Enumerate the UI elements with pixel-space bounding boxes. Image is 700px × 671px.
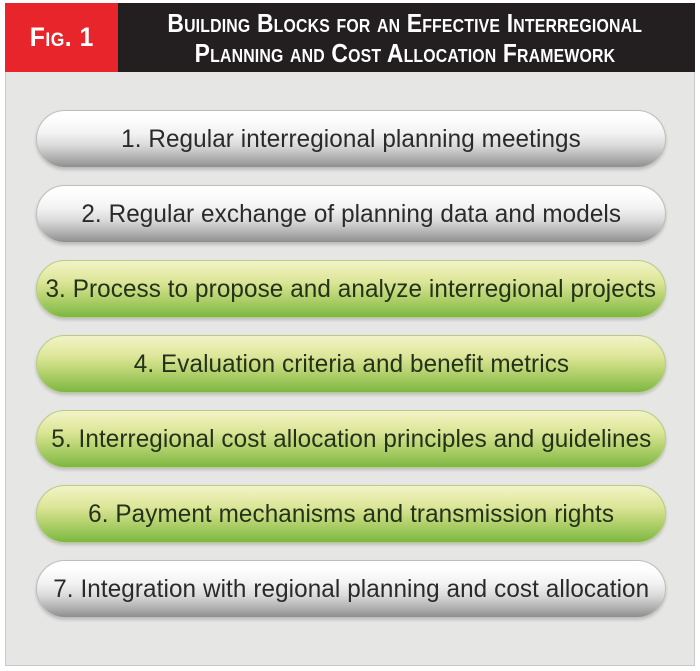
building-block-item-3: 3. Process to propose and analyze interr…	[36, 260, 666, 318]
figure-body-panel: 1. Regular interregional planning meetin…	[5, 72, 695, 666]
building-block-item-4: 4. Evaluation criteria and benefit metri…	[36, 335, 666, 393]
building-block-label: 5. Interregional cost allocation princip…	[51, 425, 651, 454]
figure-title-line-2: Planning and Cost Allocation Framework	[194, 38, 615, 68]
figure-header: Fig. 1 Building Blocks for an Effective …	[5, 3, 695, 72]
figure-title: Building Blocks for an Effective Interre…	[118, 3, 695, 72]
building-block-label: 6. Payment mechanisms and transmission r…	[88, 500, 614, 529]
building-block-item-2: 2. Regular exchange of planning data and…	[36, 185, 666, 243]
building-block-label: 2. Regular exchange of planning data and…	[81, 200, 621, 229]
figure-number-badge: Fig. 1	[5, 3, 118, 72]
building-blocks-list: 1. Regular interregional planning meetin…	[36, 110, 666, 630]
figure-number-label: Fig. 1	[29, 22, 93, 53]
building-block-label: 7. Integration with regional planning an…	[53, 575, 649, 604]
building-block-label: 3. Process to propose and analyze interr…	[46, 275, 657, 304]
building-block-label: 1. Regular interregional planning meetin…	[121, 125, 581, 154]
figure-container: Fig. 1 Building Blocks for an Effective …	[0, 0, 700, 671]
building-block-item-5: 5. Interregional cost allocation princip…	[36, 410, 666, 468]
building-block-item-6: 6. Payment mechanisms and transmission r…	[36, 485, 666, 543]
figure-title-line-1: Building Blocks for an Effective Interre…	[167, 8, 642, 38]
building-block-label: 4. Evaluation criteria and benefit metri…	[133, 350, 568, 379]
building-block-item-1: 1. Regular interregional planning meetin…	[36, 110, 666, 168]
building-block-item-7: 7. Integration with regional planning an…	[36, 560, 666, 618]
